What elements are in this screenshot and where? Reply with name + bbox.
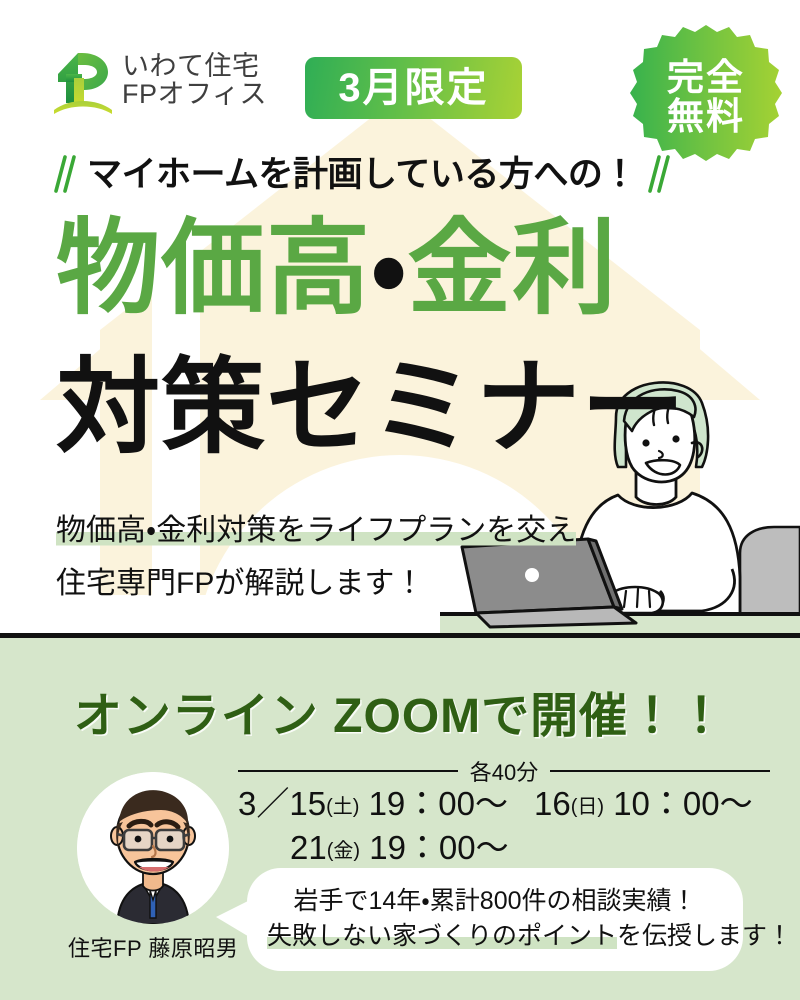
title-line1-separator-dot: ・ [371, 211, 407, 327]
duration-rule-right [550, 770, 770, 772]
brand-name-line2: FPオフィス [122, 81, 267, 109]
title-line1-part-a: 物価高 [56, 211, 371, 327]
schedule-1-time: 19：00〜 [369, 785, 508, 822]
subtitle-line1-label: 物価高・金利対策をライフプランを交え [56, 514, 576, 547]
schedule-1-date: 3／15 [238, 785, 326, 822]
free-badge-line2: 無料 [667, 98, 745, 136]
online-zoom-heading: オンライン ZOOMで開催！！ [0, 676, 800, 746]
schedule-2-time: 19：00〜 [369, 829, 508, 866]
free-badge: 完全 無料 [630, 22, 782, 172]
schedule-row-1: 3／15(土) 19：00〜16(日) 10：00〜 [238, 782, 778, 826]
fp-house-logo-icon [52, 48, 114, 114]
subtitle-line-2: 住宅専門FPが解説します！ [56, 558, 424, 602]
bubble-line-1: 岩手で14年・累計800件の相談実績！ [267, 884, 723, 919]
schedule-list: 3／15(土) 19：00〜16(日) 10：00〜 21(金) 19：00〜 [238, 782, 778, 869]
slash-left-icon [52, 151, 78, 193]
bubble-line2-highlight: 失敗しない家づくりのポイント [267, 922, 617, 950]
flyer-canvas: いわて住宅 FPオフィス 3月限定 完全 無料 [0, 0, 800, 1000]
speech-bubble: 岩手で14年・累計800件の相談実績！ 失敗しない家づくりのポイントを伝授します… [247, 868, 743, 971]
title-line-1: 物価高・金利 [56, 213, 617, 325]
title-line-2: 対策セミナー [56, 352, 686, 464]
brand-name-line1: いわて住宅 [122, 53, 267, 81]
schedule-1-weekday: (土) [326, 796, 359, 818]
brand-logo: いわて住宅 FPオフィス [52, 48, 267, 114]
bubble-line-2: 失敗しない家づくりのポイントを伝授します！ [267, 919, 723, 954]
month-limited-label: 3月限定 [338, 68, 488, 108]
month-limited-badge: 3月限定 [305, 57, 522, 119]
avatar [77, 772, 229, 924]
duration-rule-left [238, 770, 458, 772]
schedule-1b-weekday: (日) [571, 796, 604, 818]
title-line1-part-b: 金利 [407, 211, 617, 327]
schedule-row-2: 21(金) 19：00〜 [238, 826, 778, 870]
kicker-label: マイホームを計画している方への！ [87, 146, 637, 197]
schedule-1b-date: 16 [534, 785, 571, 822]
desk-edge-line [0, 633, 800, 638]
subtitle-line-1: 物価高・金利対策をライフプランを交え [56, 505, 576, 549]
presenter-avatar-icon [77, 772, 229, 924]
schedule-2-weekday: (金) [327, 840, 360, 862]
schedule-1b-time: 10：00〜 [613, 785, 752, 822]
presenter-block: 住宅FP 藤原昭男 [68, 772, 238, 963]
presenter-name: 住宅FP 藤原昭男 [68, 931, 238, 963]
headline-kicker: マイホームを計画している方への！ [52, 146, 672, 197]
bubble-line2-rest: を伝授します！ [617, 922, 792, 950]
schedule-2-date: 21 [290, 829, 327, 866]
free-badge-line1: 完全 [667, 59, 745, 97]
